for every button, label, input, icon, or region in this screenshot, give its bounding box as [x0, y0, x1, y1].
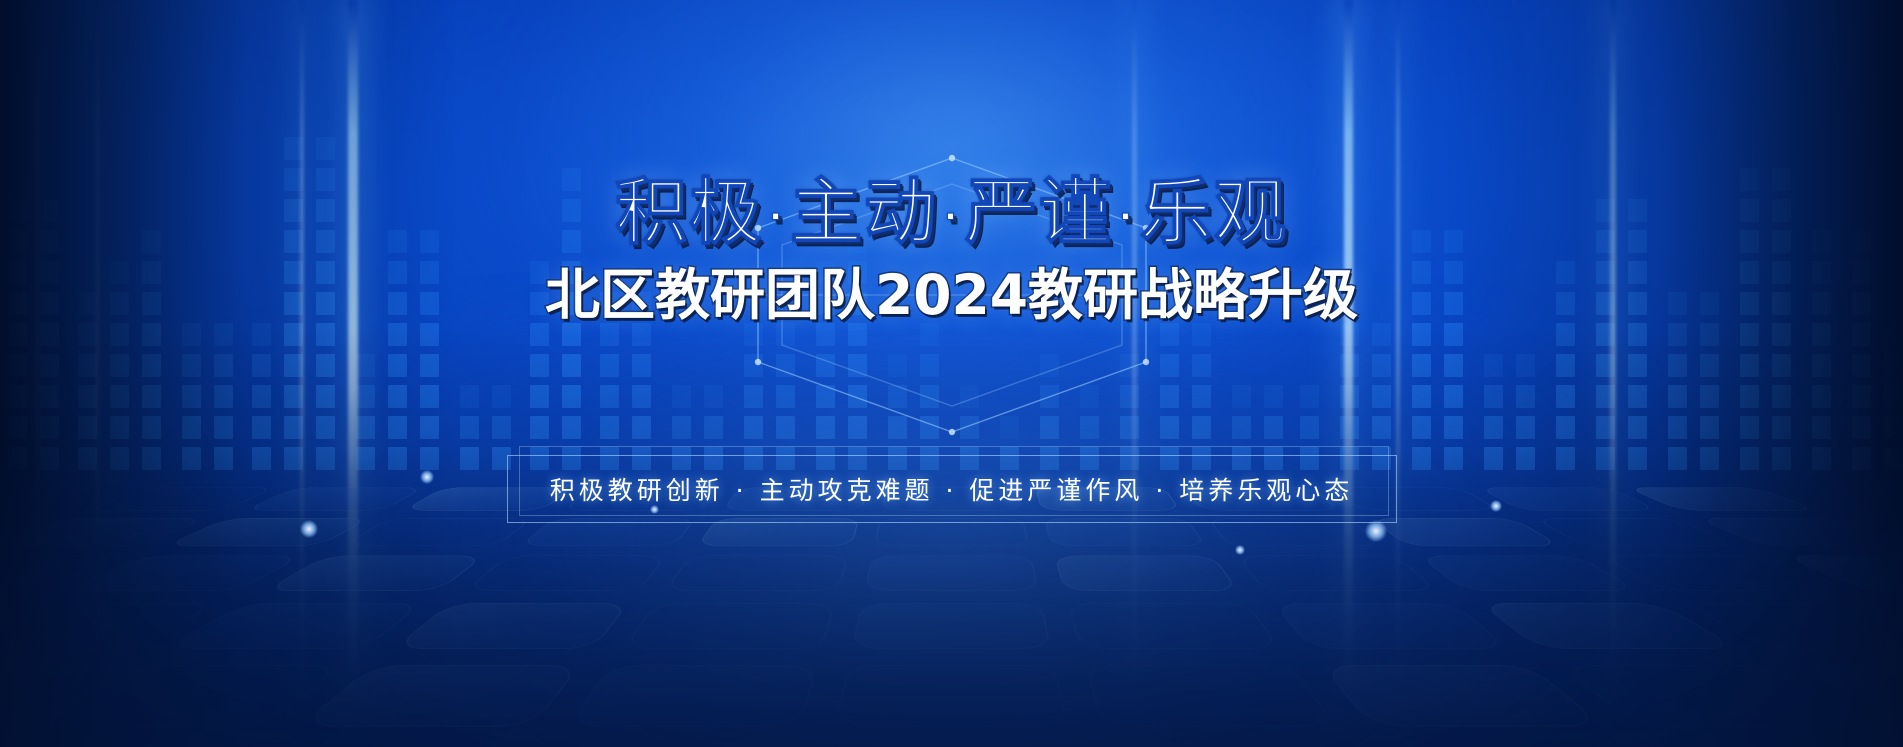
banner-content: 积极·主动·严谨·乐观 北区教研团队2024教研战略升级 积极教研创新 · 主动… — [0, 0, 1903, 747]
tagline-frame: 积极教研创新 · 主动攻克难题 · 促进严谨作风 · 培养乐观心态 — [507, 455, 1397, 523]
tagline-text: 积极教研创新 · 主动攻克难题 · 促进严谨作风 · 培养乐观心态 — [507, 455, 1397, 523]
sub-headline: 北区教研团队2024教研战略升级 — [0, 268, 1903, 323]
headline-word: 乐观 — [1140, 170, 1288, 254]
headline-separator: · — [769, 197, 784, 237]
headline-separator: · — [944, 197, 959, 237]
headline-separator: · — [1119, 197, 1134, 237]
headline-word: 主动 — [790, 170, 938, 254]
headline-word: 积极 — [615, 170, 763, 254]
banner-stage: 积极·主动·严谨·乐观 北区教研团队2024教研战略升级 积极教研创新 · 主动… — [0, 0, 1903, 747]
headline-title: 积极·主动·严谨·乐观 — [0, 176, 1903, 248]
headline-word: 严谨 — [965, 170, 1113, 254]
